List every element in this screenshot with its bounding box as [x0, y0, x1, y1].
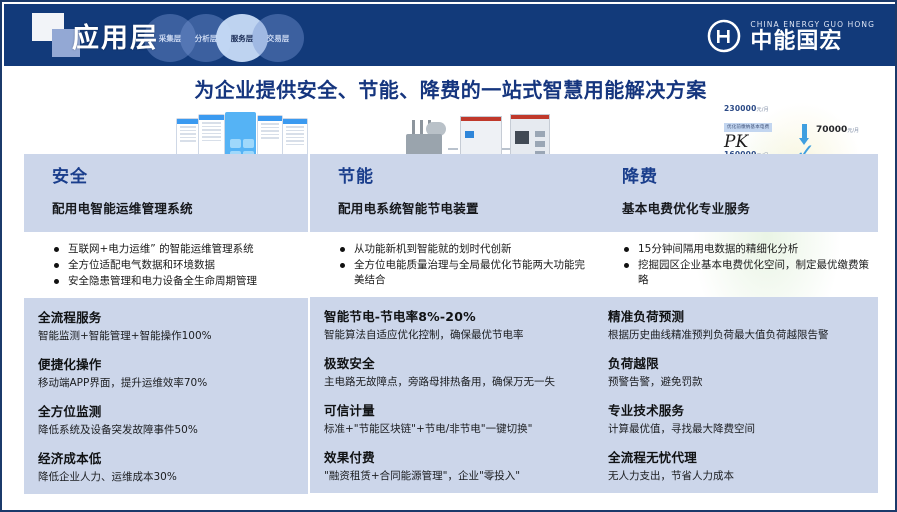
feature-desc: 计算最优值，寻找最大降费空间	[608, 422, 866, 436]
layer-circle-label: 分析层	[195, 33, 218, 44]
feature-desc: 无人力支出，节省人力成本	[608, 469, 866, 483]
slide-header: 采集层 分析层 服务层 交易层 应用层 CHINA ENERGY GUO HON…	[4, 4, 897, 66]
feature-title: 可信计量	[324, 400, 582, 419]
column-bullets: 15分钟间隔用电数据的精细化分析 挖掘园区企业基本电费优化空间，制定最优缴费策略	[594, 242, 878, 288]
feature-desc: 预警告警，避免罚款	[608, 375, 866, 389]
feature-item: 便捷化操作 移动端APP界面，提升运维效率70%	[38, 354, 296, 390]
feature-desc: 降低系统及设备突发故障事件50%	[38, 423, 296, 437]
column-subtitle: 配用电智能运维管理系统	[52, 198, 308, 217]
layer-circles: 采集层 分析层 服务层 交易层	[144, 14, 304, 64]
column-title: 降费	[622, 162, 878, 187]
layer-circle-label: 交易层	[267, 33, 290, 44]
feature-desc: 主电路无故障点，旁路母排热备用，确保万无一失	[324, 375, 582, 389]
feature-item: 精准负荷预测 根据历史曲线精准预判负荷最大值负荷越限告警	[608, 306, 866, 342]
column-bullets: 从功能新机到智能就的划时代创新 全方位电能质量治理与全局最优化节能两大功能完美结…	[310, 242, 594, 288]
column-bullets: 互联网+电力运维” 的智能运维管理系统 全方位适配电气数据和环境数据 安全隐患管…	[24, 242, 308, 289]
feature-title: 专业技术服务	[608, 400, 866, 419]
column-header-energy-saving: 节能 配用电系统智能节电装置	[310, 154, 594, 232]
pk-before-tag: 优化前缴纳基本电费	[724, 123, 772, 132]
slide-root: 采集层 分析层 服务层 交易层 应用层 CHINA ENERGY GUO HON…	[0, 0, 897, 512]
feature-title: 效果付费	[324, 447, 582, 466]
feature-title: 全流程无忧代理	[608, 447, 866, 466]
feature-item: 全流程无忧代理 无人力支出，节省人力成本	[608, 447, 866, 483]
feature-desc: 智能算法自适应优化控制，确保最优节电率	[324, 328, 582, 342]
feature-title: 智能节电-节电率8%-20%	[324, 306, 582, 325]
feature-desc: "融资租赁+合同能源管理"，企业"零投入"	[324, 469, 582, 483]
column-artwork-pk: 230000元/月 优化前缴纳基本电费 PK 160000元/月 优化后缴纳基本…	[594, 106, 878, 154]
layer-circle-label: 服务层	[231, 33, 254, 44]
feature-desc: 根据历史曲线精准预判负荷最大值负荷越限告警	[608, 328, 866, 342]
column-features: 智能节电-节电率8%-20% 智能算法自适应优化控制，确保最优节电率 极致安全 …	[310, 297, 594, 493]
column-security: 安全 配用电智能运维管理系统 互联网+电力运维” 的智能运维管理系统 全方位适配…	[24, 106, 308, 494]
feature-desc: 移动端APP界面，提升运维效率70%	[38, 376, 296, 390]
feature-title: 负荷越限	[608, 353, 866, 372]
feature-desc: 降低企业人力、运维成本30%	[38, 470, 296, 484]
company-mark-icon	[706, 18, 742, 54]
header-layer-title: 应用层	[72, 16, 159, 55]
page-title: 为企业提供安全、节能、降费的一站式智慧用能解决方案	[2, 74, 897, 103]
feature-item: 全方位监测 降低系统及设备突发故障事件50%	[38, 401, 296, 437]
column-subtitle: 配用电系统智能节电装置	[338, 198, 594, 217]
column-energy-saving: 节能 配用电系统智能节电装置 从功能新机到智能就的划时代创新 全方位电能质量治理…	[310, 106, 594, 493]
feature-item: 可信计量 标准+"节能区块链"+节电/非节电"一键切换"	[324, 400, 582, 436]
feature-item: 负荷越限 预警告警，避免罚款	[608, 353, 866, 389]
feature-item: 经济成本低 降低企业人力、运维成本30%	[38, 448, 296, 484]
bullet-item: 15分钟间隔用电数据的精细化分析	[624, 242, 878, 257]
feature-item: 专业技术服务 计算最优值，寻找最大降费空间	[608, 400, 866, 436]
layer-circle-label: 采集层	[159, 33, 182, 44]
pk-before-value: 230000元/月	[724, 104, 874, 113]
feature-item: 效果付费 "融资租赁+合同能源管理"，企业"零投入"	[324, 447, 582, 483]
column-artwork-equipment	[310, 106, 594, 154]
company-logo: CHINA ENERGY GUO HONG 中能国宏	[706, 16, 875, 56]
feature-desc: 标准+"节能区块链"+节电/非节电"一键切换"	[324, 422, 582, 436]
column-title: 安全	[52, 162, 308, 187]
feature-item: 极致安全 主电路无故障点，旁路母排热备用，确保万无一失	[324, 353, 582, 389]
company-name-cn: 中能国宏	[750, 31, 875, 53]
bullet-item: 互联网+电力运维” 的智能运维管理系统	[54, 242, 308, 257]
column-subtitle: 基本电费优化专业服务	[622, 198, 878, 217]
bullet-item: 全方位电能质量治理与全局最优化节能两大功能完美结合	[340, 258, 594, 288]
feature-title: 全流程服务	[38, 307, 296, 326]
column-features: 全流程服务 智能监测+智能管理+智能操作100% 便捷化操作 移动端APP界面，…	[24, 298, 308, 494]
feature-title: 精准负荷预测	[608, 306, 866, 325]
column-cost-reduction: 230000元/月 优化前缴纳基本电费 PK 160000元/月 优化后缴纳基本…	[594, 106, 878, 493]
feature-title: 极致安全	[324, 353, 582, 372]
bullet-item: 挖掘园区企业基本电费优化空间，制定最优缴费策略	[624, 258, 878, 288]
feature-item: 全流程服务 智能监测+智能管理+智能操作100%	[38, 307, 296, 343]
column-artwork-phones	[24, 106, 308, 154]
pk-savings-unit: 元/月	[847, 128, 859, 134]
column-header-security: 安全 配用电智能运维管理系统	[24, 154, 308, 232]
bullet-item: 安全隐患管理和电力设备全生命周期管理	[54, 274, 308, 289]
bullet-item: 从功能新机到智能就的划时代创新	[340, 242, 594, 257]
column-features: 精准负荷预测 根据历史曲线精准预判负荷最大值负荷越限告警 负荷越限 预警告警，避…	[594, 297, 878, 493]
feature-desc: 智能监测+智能管理+智能操作100%	[38, 329, 296, 343]
company-name-block: CHINA ENERGY GUO HONG 中能国宏	[750, 20, 875, 53]
pk-savings-value: 70000元/月	[816, 125, 859, 135]
column-title: 节能	[338, 162, 594, 187]
column-header-cost-reduction: 降费 基本电费优化专业服务	[594, 154, 878, 232]
bullet-item: 全方位适配电气数据和环境数据	[54, 258, 308, 273]
feature-item: 智能节电-节电率8%-20% 智能算法自适应优化控制，确保最优节电率	[324, 306, 582, 342]
layer-circle-trade[interactable]: 交易层	[252, 14, 304, 62]
feature-title: 便捷化操作	[38, 354, 296, 373]
company-name-en: CHINA ENERGY GUO HONG	[750, 20, 875, 29]
down-arrow-icon	[802, 124, 807, 138]
feature-title: 全方位监测	[38, 401, 296, 420]
feature-title: 经济成本低	[38, 448, 296, 467]
pk-before-unit: 元/月	[757, 107, 769, 113]
